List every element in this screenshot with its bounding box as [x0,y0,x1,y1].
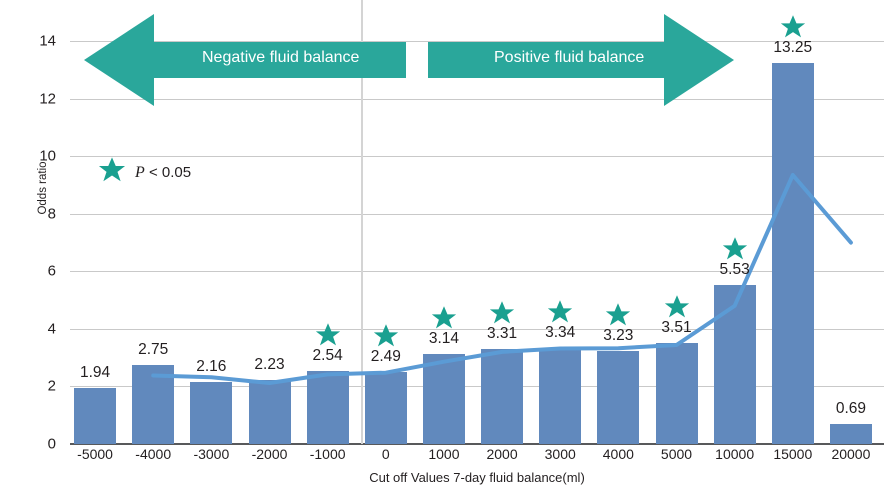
x-tick--5000: -5000 [77,446,113,462]
y-axis-ticks: 02468101214 [0,24,56,444]
y-tick-label: 8 [16,205,56,222]
bar-value-2000: 3.31 [487,325,517,343]
bar-value-10000: 5.53 [720,261,750,279]
y-tick-label: 12 [16,90,56,107]
bar-value--5000: 1.94 [80,364,110,382]
x-tick-15000: 15000 [773,446,812,462]
x-tick-3000: 3000 [545,446,576,462]
bar-value--4000: 2.75 [138,341,168,359]
positive-arrow-label: Positive fluid balance [494,49,644,67]
y-tick-label: 10 [16,148,56,165]
significance-star-0 [373,323,399,349]
legend: P < 0.05 [98,156,191,189]
bar-value--1000: 2.54 [313,347,343,365]
y-axis-title: Odds ratio [37,143,49,233]
legend-p-italic: P [135,164,145,181]
bar-value-15000: 13.25 [773,39,812,57]
significance-star-10000 [722,236,748,262]
y-tick-label: 4 [16,320,56,337]
x-tick-2000: 2000 [486,446,517,462]
bar-value-4000: 3.23 [603,327,633,345]
bar-value--2000: 2.23 [254,356,284,374]
x-tick--3000: -3000 [193,446,229,462]
x-tick-0: 0 [382,446,390,462]
significance-star-5000 [664,294,690,320]
x-tick--1000: -1000 [310,446,346,462]
y-tick-label: 6 [16,263,56,280]
bar-value-0: 2.49 [371,348,401,366]
bar-value-1000: 3.14 [429,330,459,348]
significance-star-15000 [780,14,806,40]
x-axis-title: Cut off Values 7-day fluid balance(ml) [70,470,884,485]
legend-threshold: < 0.05 [145,164,191,181]
x-axis-ticks: -5000-4000-3000-2000-1000010002000300040… [70,446,884,468]
significance-star-2000 [489,300,515,326]
y-tick-label: 0 [16,436,56,453]
significance-star--1000 [315,322,341,348]
legend-label: P < 0.05 [135,164,191,182]
chart-figure: 02468101214 Odds ratio 1.942.752.162.232… [0,0,887,493]
negative-arrow-label: Negative fluid balance [202,49,359,67]
significance-star-3000 [547,299,573,325]
significance-star-4000 [605,302,631,328]
star-icon [98,156,126,189]
x-tick-20000: 20000 [831,446,870,462]
bar-value--3000: 2.16 [196,358,226,376]
x-tick-10000: 10000 [715,446,754,462]
x-tick-5000: 5000 [661,446,692,462]
significance-star-1000 [431,305,457,331]
negative-arrow: Negative fluid balance [84,12,406,108]
bar-value-3000: 3.34 [545,324,575,342]
bar-value-20000: 0.69 [836,400,866,418]
x-tick--4000: -4000 [135,446,171,462]
x-tick-4000: 4000 [603,446,634,462]
y-tick-label: 2 [16,378,56,395]
bar-value-5000: 3.51 [661,319,691,337]
x-tick--2000: -2000 [252,446,288,462]
x-tick-1000: 1000 [428,446,459,462]
y-tick-label: 14 [16,33,56,50]
positive-arrow: Positive fluid balance [428,12,734,108]
